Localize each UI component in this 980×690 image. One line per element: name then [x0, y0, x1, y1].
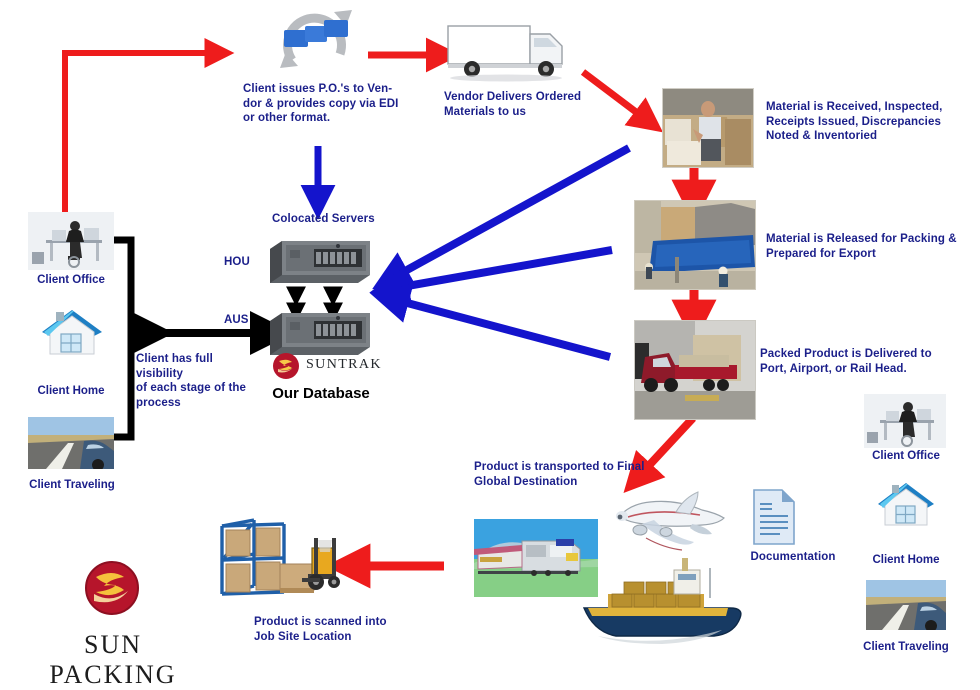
documentation-label: Documentation: [728, 550, 858, 565]
scanned-jobsite-label: Product is scanned into Job Site Locatio…: [254, 615, 434, 644]
client-traveling-label-right: Client Traveling: [848, 641, 964, 653]
suntrak-wordmark: SUNTRAK: [306, 357, 382, 373]
server-rack-icon-hou: [268, 239, 372, 287]
client-traveling-label-left: Client Traveling: [12, 479, 132, 491]
colocated-servers-title: Colocated Servers: [272, 212, 412, 227]
vendor-delivers-label: Vendor Delivers Ordered Materials to us: [444, 90, 614, 119]
client-home-label-right: Client Home: [856, 554, 956, 566]
arrow-client-to-po: [65, 53, 214, 214]
packed-delivery-photo: [634, 320, 756, 420]
client-visibility-bracket: [113, 240, 131, 437]
client-traveling-photo-left: [28, 417, 114, 469]
container-ship-icon: [578, 556, 748, 644]
sun-packing-wordmark: SUN PACKING: [18, 630, 208, 690]
client-office-photo-right: [864, 394, 946, 448]
server-site-aus: AUS: [224, 313, 249, 328]
house-icon-left: [34, 302, 110, 364]
packing-release-photo: [634, 200, 756, 290]
refresh-cycle-icon: [262, 2, 370, 76]
po-issue-label: Client issues P.O.'s to Ven- dor & provi…: [243, 82, 413, 126]
server-site-hou: HOU: [224, 255, 250, 270]
diagram-canvas: Client issues P.O.'s to Ven- dor & provi…: [0, 0, 980, 668]
client-visibility-label: Client has full visibility of each stage…: [136, 352, 261, 410]
client-office-label-right: Client Office: [856, 450, 956, 462]
client-traveling-photo-right: [866, 580, 946, 630]
material-released-label: Material is Released for Packing & Prepa…: [766, 232, 980, 261]
arrow-delivery-data-to-servers: [396, 300, 610, 357]
house-icon-right: [872, 476, 940, 534]
packed-delivered-label: Packed Product is Delivered to Port, Air…: [760, 347, 975, 376]
box-truck-icon: [444, 20, 584, 82]
client-office-photo-left: [28, 212, 114, 270]
our-database-label: Our Database: [266, 385, 376, 402]
pallet-rack-icon: [214, 518, 344, 600]
receiving-photo: [662, 88, 754, 168]
document-icon: [750, 488, 798, 546]
client-home-label-left: Client Home: [18, 385, 124, 397]
client-office-label-left: Client Office: [18, 274, 124, 286]
suntrak-logo-icon: [272, 352, 300, 380]
sun-packing-logo-icon: [84, 560, 140, 616]
final-transport-label: Product is transported to Final Global D…: [474, 460, 674, 489]
material-received-label: Material is Received, Inspected, Receipt…: [766, 100, 980, 144]
